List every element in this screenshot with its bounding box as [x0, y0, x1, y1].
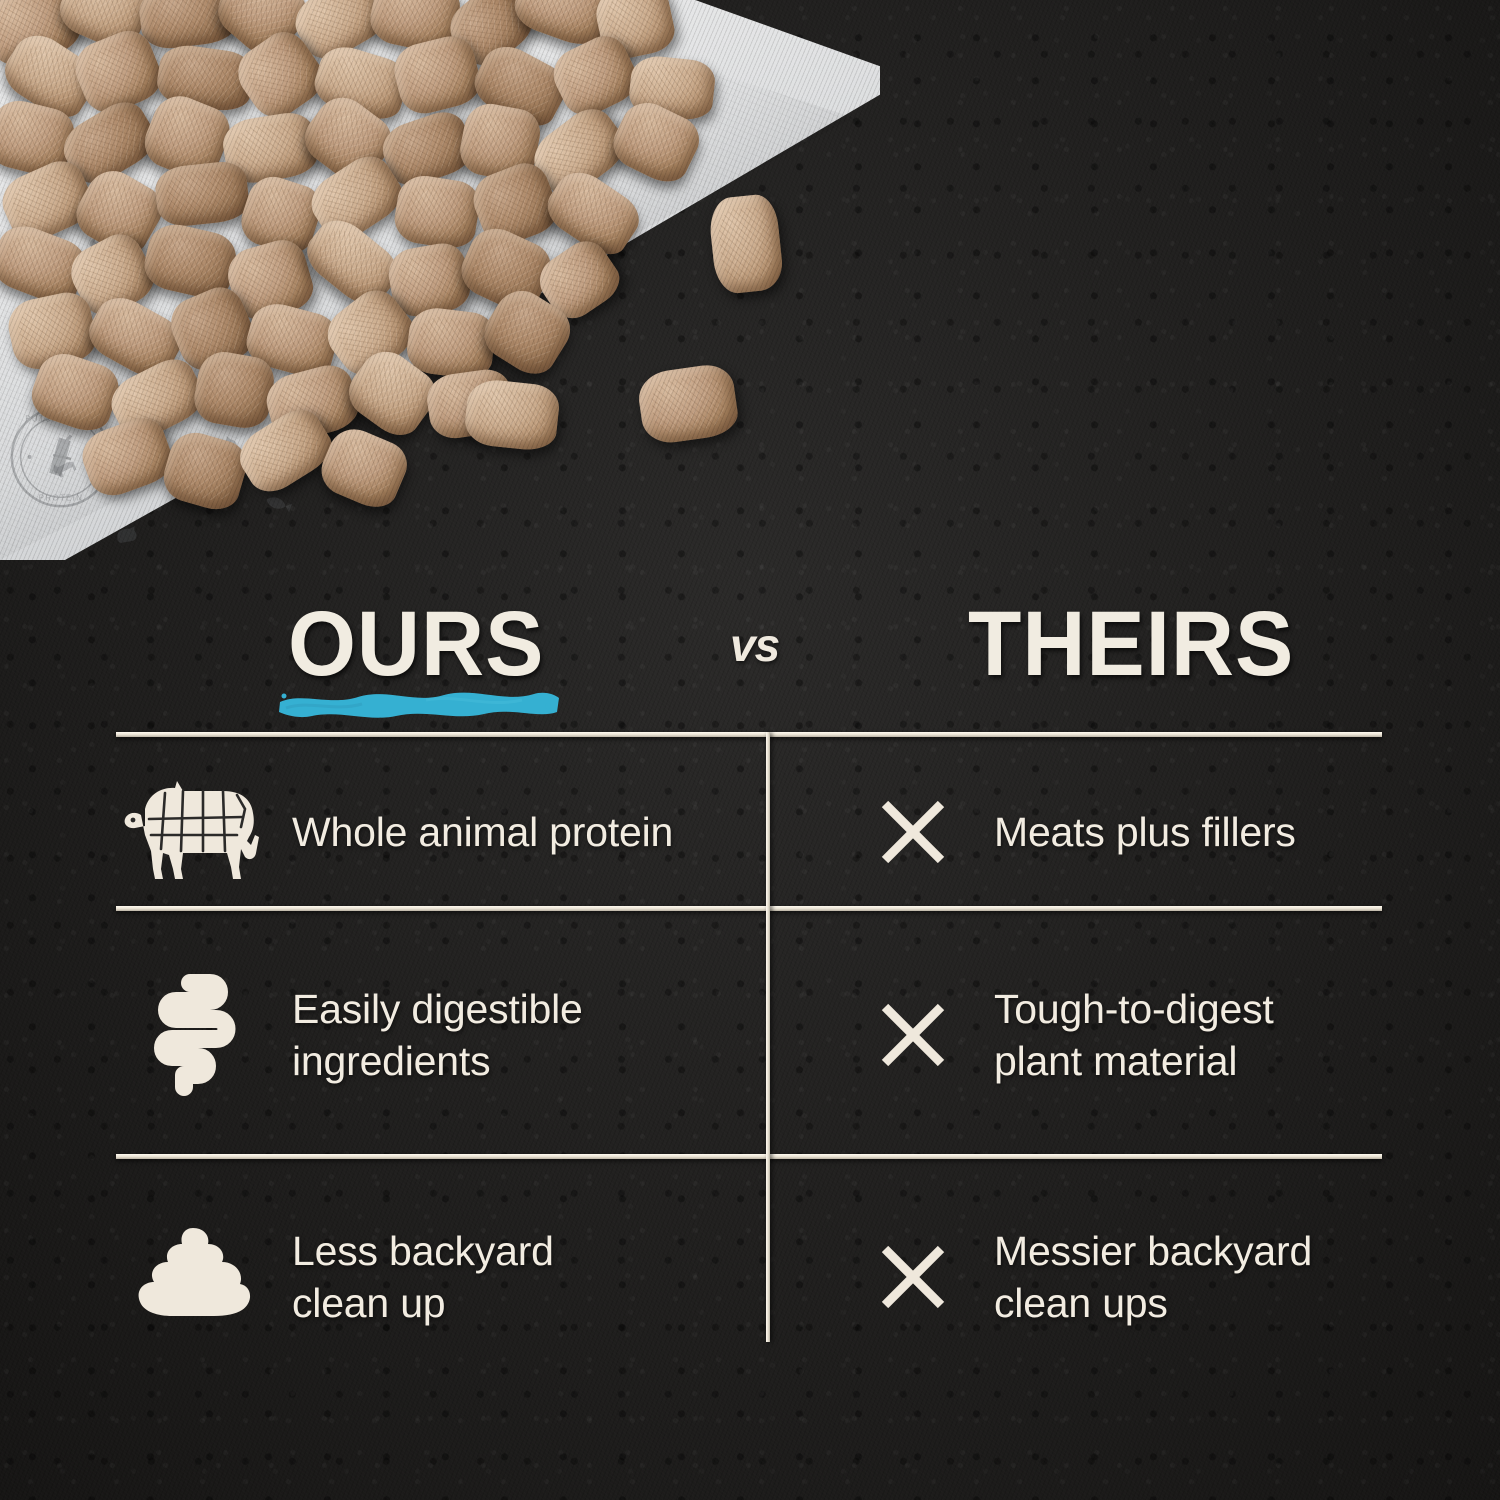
- divider-line-bottom: [116, 1154, 1382, 1159]
- row-3-theirs-cell: Messier backyard clean ups: [852, 1192, 1472, 1362]
- divider-line-top: [116, 732, 1382, 737]
- row-3-theirs-text: Messier backyard clean ups: [994, 1225, 1312, 1329]
- divider-line-middle: [116, 906, 1382, 911]
- row-2-theirs-cell: Tough-to-digest plant material: [852, 940, 1472, 1130]
- column-header-ours: OURS: [288, 598, 544, 690]
- versus-label: vs: [730, 618, 779, 672]
- poop-icon: [118, 1224, 268, 1330]
- row-1-theirs-cell: Meats plus fillers: [852, 762, 1472, 902]
- row-2-theirs-text: Tough-to-digest plant material: [994, 983, 1274, 1087]
- comparison-table: OURS vs THEIRS: [0, 0, 1500, 1500]
- row-3-ours-cell: Less backyard clean up: [118, 1192, 758, 1362]
- column-header-theirs: THEIRS: [968, 598, 1294, 690]
- row-1-ours-text: Whole animal protein: [292, 806, 673, 858]
- x-mark-icon: [852, 998, 974, 1072]
- divider-line-vertical: [766, 732, 770, 1342]
- row-1-ours-cell: Whole animal protein: [118, 762, 758, 902]
- row-1-theirs-text: Meats plus fillers: [994, 806, 1296, 858]
- x-mark-icon: [852, 795, 974, 869]
- cow-butcher-chart-icon: [118, 779, 268, 885]
- row-3-ours-text: Less backyard clean up: [292, 1225, 554, 1329]
- intestine-icon: [118, 971, 268, 1099]
- x-mark-icon: [852, 1240, 974, 1314]
- row-2-ours-text: Easily digestible ingredients: [292, 983, 583, 1087]
- row-2-ours-cell: Easily digestible ingredients: [118, 940, 758, 1130]
- infographic-canvas: BUTCHER CUT PROTEIN: [0, 0, 1500, 1500]
